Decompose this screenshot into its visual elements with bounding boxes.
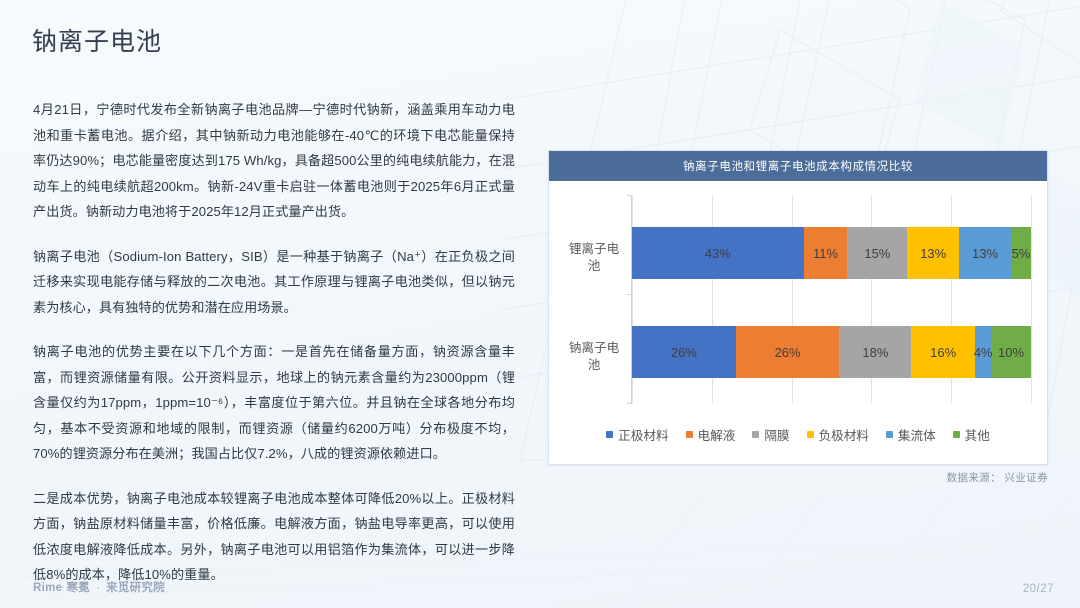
legend-item[interactable]: 负极材料 bbox=[807, 425, 869, 444]
legend-item[interactable]: 正极材料 bbox=[606, 425, 668, 444]
brand-separator: · bbox=[94, 582, 102, 594]
bar-segment-label: 18% bbox=[862, 345, 888, 360]
legend-label: 集流体 bbox=[898, 425, 936, 444]
legend-swatch-icon bbox=[752, 431, 759, 438]
bar-segment: 13% bbox=[959, 227, 1011, 279]
bar-segment: 43% bbox=[632, 227, 804, 279]
bar-segment: 13% bbox=[907, 227, 959, 279]
legend-label: 负极材料 bbox=[819, 425, 869, 444]
axis-tick bbox=[627, 403, 632, 404]
bar-segment-label: 16% bbox=[930, 345, 956, 360]
bar-segment-label: 4% bbox=[974, 345, 993, 360]
bar-segment: 18% bbox=[839, 326, 911, 378]
paragraph-4: 二是成本优势，钠离子电池成本较锂离子电池成本整体可降低20%以上。正极材料方面，… bbox=[33, 486, 515, 588]
bar-segment-label: 15% bbox=[864, 246, 890, 261]
bar-segment-label: 13% bbox=[920, 246, 946, 261]
legend-item[interactable]: 隔膜 bbox=[752, 425, 789, 444]
brand-name-cn: 寒冕 bbox=[66, 579, 90, 595]
chart-title: 钠离子电池和锂离子电池成本构成情况比较 bbox=[549, 151, 1047, 181]
bar-segment-label: 5% bbox=[1012, 246, 1031, 261]
category-axis: 锂离子电池 钠离子电池 bbox=[565, 195, 631, 403]
page-title: 钠离子电池 bbox=[32, 26, 162, 59]
stacked-bar: 26%26%18%16%4%10% bbox=[632, 326, 1031, 378]
bar-segment: 16% bbox=[911, 326, 975, 378]
category-label-sodium: 钠离子电池 bbox=[563, 340, 625, 374]
bar-segment-label: 10% bbox=[998, 345, 1024, 360]
stacked-bar: 43%11%15%13%13%5% bbox=[632, 227, 1031, 279]
source-note: 数据来源： 兴业证券 bbox=[548, 470, 1048, 485]
bar-segment-label: 43% bbox=[705, 246, 731, 261]
bar-segment: 5% bbox=[1011, 227, 1031, 279]
paragraph-1: 4月21日，宁德时代发布全新钠离子电池品牌—宁德时代钠新，涵盖乘用车动力电池和重… bbox=[33, 97, 515, 225]
paragraph-2: 钠离子电池（Sodium-Ion Battery，SIB）是一种基于钠离子（Na… bbox=[33, 244, 515, 321]
article-body: 4月21日，宁德时代发布全新钠离子电池品牌—宁德时代钠新，涵盖乘用车动力电池和重… bbox=[33, 97, 515, 588]
bar-segment: 11% bbox=[804, 227, 848, 279]
bar-segment: 4% bbox=[975, 326, 991, 378]
bar-segment: 26% bbox=[736, 326, 840, 378]
gridline bbox=[1031, 195, 1032, 403]
bar-segment: 26% bbox=[632, 326, 736, 378]
legend-swatch-icon bbox=[807, 431, 814, 438]
legend-label: 隔膜 bbox=[764, 425, 789, 444]
plot-wrapper: 锂离子电池 钠离子电池 43%11%15%13%13%5%26%26%18%16… bbox=[565, 195, 1031, 403]
bar-segment: 15% bbox=[847, 227, 907, 279]
legend-label: 其他 bbox=[965, 425, 990, 444]
footer-brand: Rime 寒冕 · 来觅研究院 bbox=[33, 579, 165, 595]
axis-tick bbox=[627, 195, 632, 196]
legend-label: 正极材料 bbox=[618, 425, 668, 444]
legend-swatch-icon bbox=[953, 431, 960, 438]
bar-segment-label: 26% bbox=[671, 345, 697, 360]
brand-name-en: Rime bbox=[33, 582, 62, 594]
category-label-lithium: 锂离子电池 bbox=[563, 241, 625, 275]
bar-segment-label: 11% bbox=[813, 246, 838, 261]
institute-name: 来觅研究院 bbox=[106, 579, 165, 595]
page-number: 20/27 bbox=[1023, 583, 1054, 595]
bar-segment-label: 26% bbox=[775, 345, 801, 360]
legend-item[interactable]: 电解液 bbox=[686, 425, 736, 444]
plot-area: 43%11%15%13%13%5%26%26%18%16%4%10% bbox=[631, 195, 1031, 403]
chart-legend: 正极材料电解液隔膜负极材料集流体其他 bbox=[549, 425, 1047, 444]
chart-plot-container: 锂离子电池 钠离子电池 43%11%15%13%13%5%26%26%18%16… bbox=[549, 181, 1047, 464]
bar-segment-label: 13% bbox=[972, 246, 998, 261]
legend-swatch-icon bbox=[686, 431, 693, 438]
paragraph-3: 钠离子电池的优势主要在以下几个方面：一是首先在储备量方面，钠资源含量丰富，而锂资… bbox=[33, 339, 515, 467]
legend-item[interactable]: 其他 bbox=[953, 425, 990, 444]
legend-swatch-icon bbox=[606, 431, 613, 438]
chart-card: 钠离子电池和锂离子电池成本构成情况比较 锂离子电池 钠离子电池 43%11%15… bbox=[548, 150, 1048, 465]
bar-segment: 10% bbox=[991, 326, 1031, 378]
legend-item[interactable]: 集流体 bbox=[886, 425, 936, 444]
axis-tick bbox=[627, 294, 632, 295]
legend-label: 电解液 bbox=[698, 425, 736, 444]
slide-canvas: 钠离子电池 4月21日，宁德时代发布全新钠离子电池品牌—宁德时代钠新，涵盖乘用车… bbox=[0, 0, 1080, 608]
legend-swatch-icon bbox=[886, 431, 893, 438]
